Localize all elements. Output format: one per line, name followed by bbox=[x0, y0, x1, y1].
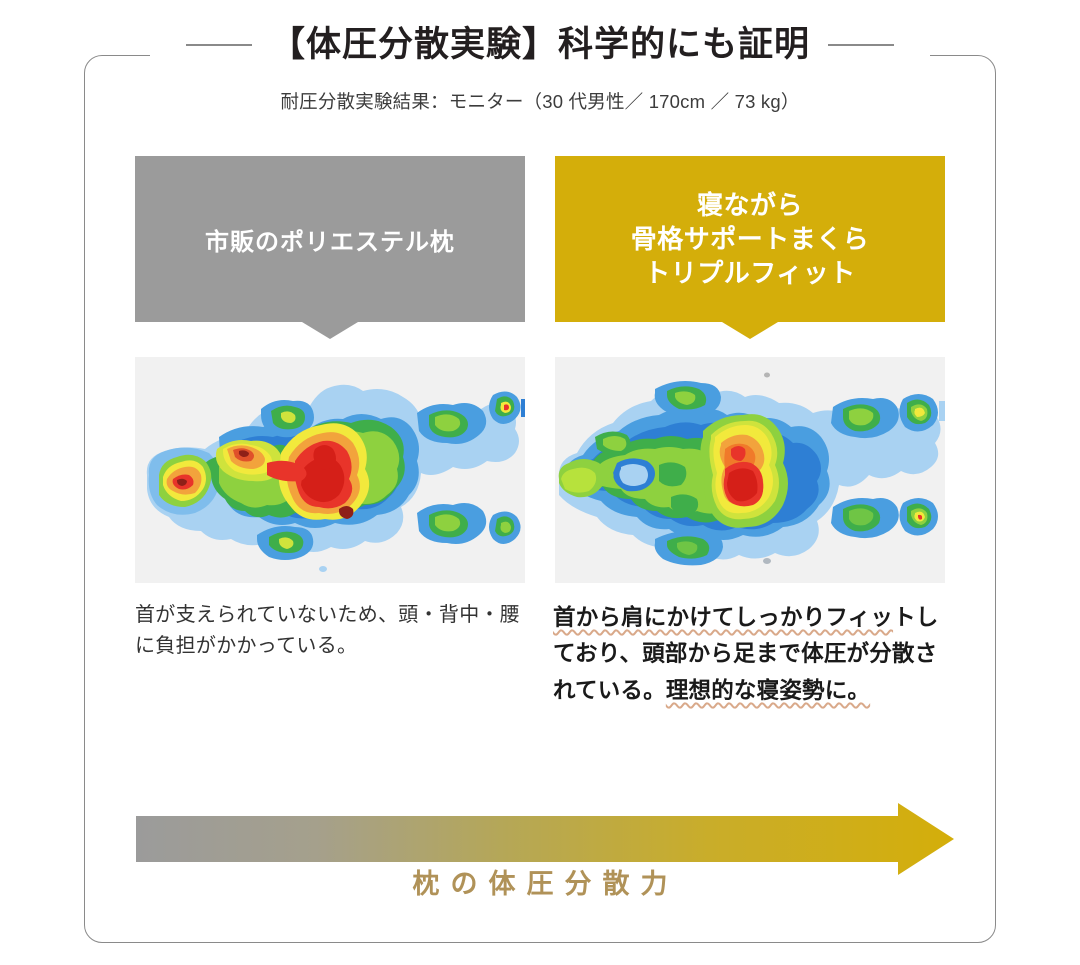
arrow-label: 枕の体圧分散力 bbox=[0, 862, 1080, 901]
tab-label-line1: 寝ながら bbox=[697, 188, 803, 222]
tab-label-line2: 骨格サポートまくら bbox=[631, 222, 870, 256]
caption-right-part1: 首から肩にかけてしっかりフィッ bbox=[553, 605, 893, 630]
title-rule-left bbox=[186, 44, 252, 46]
heatmap-conventional-pillow bbox=[135, 357, 525, 583]
page-title: 【体圧分散実験】科学的にも証明 bbox=[270, 23, 810, 67]
comparison-column-right: 寝ながら 骨格サポートまくら トリプルフィット bbox=[555, 156, 945, 339]
caption-right-part3: 理想的な寝姿勢に。 bbox=[666, 678, 870, 703]
tab-label-text: 市販のポリエステル枕 bbox=[205, 222, 455, 257]
label-tab-support-pillow: 寝ながら 骨格サポートまくら トリプルフィット bbox=[555, 156, 945, 339]
caption-support-pillow: 首から肩にかけてしっかりフィットしており、頭部から足まで体圧が分散されている。理… bbox=[553, 600, 949, 709]
tab-notch-icon bbox=[722, 322, 778, 339]
tab-label-line3: トリプルフィット bbox=[644, 256, 855, 290]
label-tab-conventional-pillow: 市販のポリエステル枕 bbox=[135, 156, 525, 339]
heatmap-support-pillow bbox=[555, 357, 945, 583]
tab-notch-icon bbox=[302, 322, 358, 339]
page-subtitle: 耐圧分散実験結果：モニター（30 代男性／ 170cm ／ 73 kg） bbox=[0, 88, 1080, 114]
heatmap-right-svg bbox=[555, 357, 945, 583]
header: 【体圧分散実験】科学的にも証明 bbox=[0, 23, 1080, 67]
heatmap-left-svg bbox=[135, 357, 525, 583]
title-rule-right bbox=[828, 44, 894, 46]
comparison-column-left: 市販のポリエステル枕 bbox=[135, 156, 525, 339]
caption-conventional-pillow: 首が支えられていないため、頭・背中・腰に負担がかかっている。 bbox=[135, 600, 531, 662]
